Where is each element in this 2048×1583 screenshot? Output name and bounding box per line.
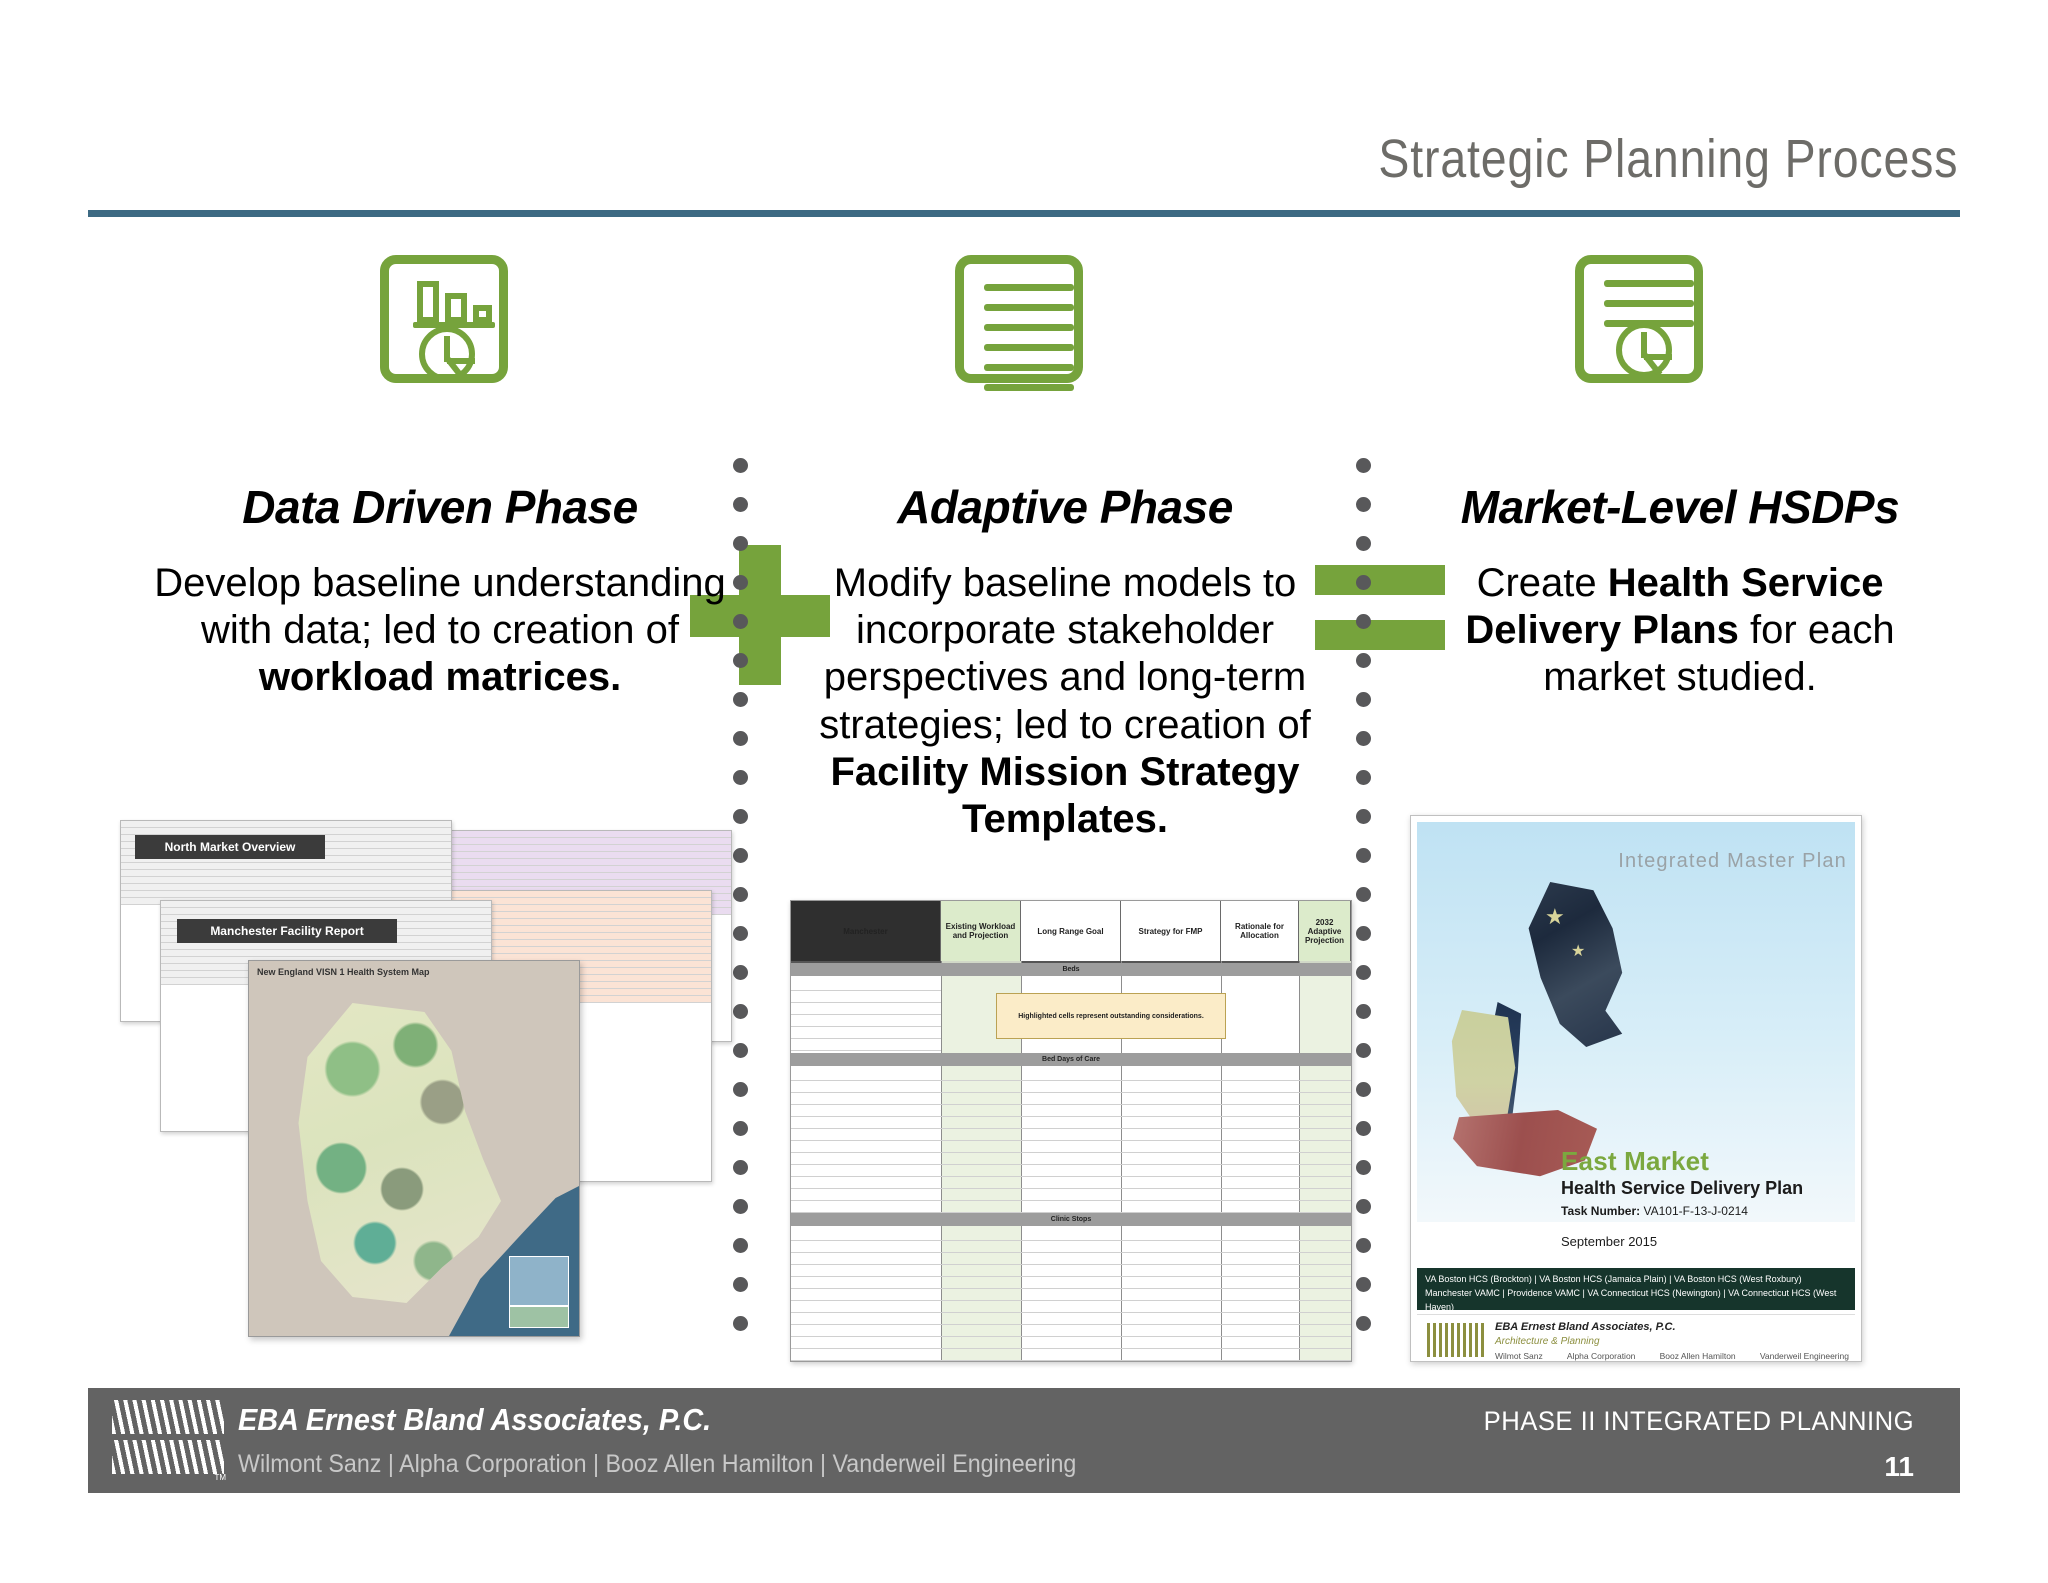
logo-band-bottom <box>112 1440 224 1474</box>
template-row <box>791 1325 1351 1337</box>
map-landmass <box>285 1003 510 1303</box>
document-with-pie-chart-icon <box>1575 255 1703 383</box>
matrix-sheet-north-market-title: North Market Overview <box>135 835 325 859</box>
slide-canvas: Strategic Planning Process <box>0 0 2048 1583</box>
matrix-row <box>121 891 451 898</box>
template-row <box>791 1313 1351 1325</box>
template-row <box>791 1253 1351 1265</box>
cover-task-line: Task Number: VA101-F-13-J-0214 <box>1561 1204 1748 1218</box>
phase-column-data-driven: Data Driven Phase Develop baseline under… <box>150 480 730 702</box>
divider-dot <box>733 653 748 668</box>
report-pie-glyph <box>1616 322 1672 378</box>
footer-page-number: 11 <box>1884 1451 1914 1483</box>
template-row-labels-group-a <box>791 979 941 1051</box>
bar-and-pie-chart-icon <box>380 255 508 383</box>
template-row <box>791 1039 941 1051</box>
document-lines-glyph <box>984 284 1074 404</box>
doc-line <box>984 344 1074 351</box>
matrix-row <box>161 943 491 950</box>
footer-firm-name: EBA Ernest Bland Associates, P.C. <box>238 1402 711 1438</box>
matrix-row <box>161 908 491 915</box>
template-row <box>791 1153 1351 1165</box>
cover-partner: Wilmot Sanz <box>1495 1351 1543 1361</box>
pie-chart-glyph <box>419 326 475 382</box>
template-row <box>791 1117 1351 1129</box>
cover-partner: Alpha Corporation <box>1567 1351 1636 1361</box>
new-england-flag-map: ★ ★ ★ <box>1431 882 1671 1182</box>
map-inset-lower <box>509 1306 569 1328</box>
template-row <box>791 1189 1351 1201</box>
cover-partner: Vanderweil Engineering <box>1760 1351 1849 1361</box>
cover-date: September 2015 <box>1561 1234 1657 1249</box>
template-row <box>791 1337 1351 1349</box>
cover-facilities-line-2: Manchester VAMC | Providence VAMC | VA C… <box>1425 1287 1847 1315</box>
template-row <box>791 1069 1351 1081</box>
matrix-row <box>121 884 451 891</box>
matrix-sheet-manchester-title: Manchester Facility Report <box>177 919 397 943</box>
template-highlight-note: Highlighted cells represent outstanding … <box>996 993 1226 1039</box>
eba-logo-icon: TM <box>112 1400 224 1480</box>
template-row <box>791 1081 1351 1093</box>
divider-dot <box>1356 1277 1371 1292</box>
map-region-maine: ★ ★ <box>1519 882 1639 1047</box>
facility-mission-strategy-template-artwork: Manchester Existing Workload and Project… <box>790 900 1352 1362</box>
doc-line <box>1604 280 1694 287</box>
cover-firm-name: EBA Ernest Bland Associates, P.C. <box>1495 1321 1676 1333</box>
divider-dot <box>1356 1316 1371 1331</box>
template-row <box>791 1361 1351 1362</box>
cover-facilities-line-1: VA Boston HCS (Brockton) | VA Boston HCS… <box>1425 1273 1847 1287</box>
divider-dot <box>1356 1238 1371 1253</box>
template-row <box>791 1105 1351 1117</box>
template-row <box>791 1003 941 1015</box>
template-header-existing-workload: Existing Workload and Projection <box>941 901 1021 961</box>
divider-dot <box>733 692 748 707</box>
footer-partner-list: Wilmont Sanz | Alpha Corporation | Booz … <box>238 1450 1076 1479</box>
doc-line <box>984 364 1074 371</box>
flag-star: ★ <box>1545 906 1565 928</box>
template-row <box>791 1165 1351 1177</box>
doc-line <box>984 304 1074 311</box>
divider-dot <box>733 614 748 629</box>
template-row <box>791 1301 1351 1313</box>
hsdp-cover-artwork: Integrated Master Plan ★ ★ ★ East Market… <box>1410 815 1862 1362</box>
doc-line <box>1604 300 1694 307</box>
divider-dot <box>733 497 748 512</box>
doc-line <box>984 324 1074 331</box>
template-header-adaptive-projection: 2032 Adaptive Projection <box>1299 901 1351 961</box>
template-row <box>791 1349 1351 1361</box>
divider-dot <box>1356 1121 1371 1136</box>
divider-dot <box>1356 965 1371 980</box>
doc-line <box>984 284 1074 291</box>
template-row <box>791 1177 1351 1189</box>
cover-task-number: VA101-F-13-J-0214 <box>1643 1204 1748 1218</box>
template-facility-cell: Manchester <box>791 901 941 961</box>
template-row <box>791 1277 1351 1289</box>
template-header-strategy-fmp: Strategy for FMP <box>1121 901 1221 961</box>
body-pre-text: Modify baseline models to incorporate st… <box>819 561 1310 747</box>
matrix-row <box>161 901 491 908</box>
template-row <box>791 991 941 1003</box>
template-row <box>791 1289 1351 1301</box>
divider-dot <box>733 731 748 746</box>
divider-dot <box>733 458 748 473</box>
template-row <box>791 1027 941 1039</box>
lined-document-icon <box>955 255 1083 383</box>
matrix-row <box>121 870 451 877</box>
template-row <box>791 1141 1351 1153</box>
cover-subtitle: Health Service Delivery Plan <box>1561 1178 1803 1199</box>
template-section-band-beds: Beds <box>791 963 1351 976</box>
map-inset-upper <box>509 1256 569 1306</box>
page-title: Strategic Planning Process <box>1378 128 1958 190</box>
trademark-mark: TM <box>214 1473 226 1482</box>
template-row <box>791 1093 1351 1105</box>
phase-column-adaptive: Adaptive Phase Modify baseline models to… <box>760 480 1370 843</box>
map-title-label: New England VISN 1 Health System Map <box>257 967 430 978</box>
matrix-row <box>121 821 451 828</box>
divider-dot <box>1356 1082 1371 1097</box>
divider-dot <box>1356 926 1371 941</box>
template-row <box>791 1201 1351 1213</box>
divider-dot <box>1356 1043 1371 1058</box>
template-row <box>791 1265 1351 1277</box>
template-section-band-clinic-stops: Clinic Stops <box>791 1213 1351 1226</box>
body-pre-text: Develop baseline understanding with data… <box>154 561 726 652</box>
slide-footer: TM EBA Ernest Bland Associates, P.C. Wil… <box>88 1388 1960 1493</box>
bar-chart-glyph <box>413 284 495 328</box>
phase-column-market-hsdp: Market-Level HSDPs Create Health Service… <box>1400 480 1960 702</box>
divider-dot <box>733 536 748 551</box>
bar-short <box>473 305 492 323</box>
template-row <box>791 1129 1351 1141</box>
template-row <box>791 1241 1351 1253</box>
divider-dot <box>1356 848 1371 863</box>
bar-mid <box>445 293 467 323</box>
footer-phase-label: PHASE II INTEGRATED PLANNING <box>1484 1406 1914 1437</box>
divider-dot <box>1356 1160 1371 1175</box>
body-bold-text: Facility Mission Strategy Templates. <box>830 750 1299 841</box>
phase-body-adaptive: Modify baseline models to incorporate st… <box>760 560 1370 843</box>
eba-logo-icon <box>1427 1323 1487 1357</box>
process-icon-row <box>0 255 2048 385</box>
phase-body-data-driven: Develop baseline understanding with data… <box>150 560 730 702</box>
flag-star: ★ <box>1571 944 1585 960</box>
phase-body-market-hsdp: Create Health Service Delivery Plans for… <box>1400 560 1960 702</box>
cover-partner-list: Wilmot Sanz Alpha Corporation Booz Allen… <box>1495 1351 1849 1361</box>
template-row <box>791 979 941 991</box>
divider-dot <box>1356 458 1371 473</box>
logo-band-top <box>112 1400 224 1434</box>
template-header-rationale: Rationale for Allocation <box>1221 901 1299 961</box>
template-rows-group-c <box>791 1229 1351 1362</box>
template-row <box>791 1015 941 1027</box>
cover-firm-discipline: Architecture & Planning <box>1495 1336 1600 1347</box>
cover-integrated-master-plan-label: Integrated Master Plan <box>1411 850 1847 873</box>
template-row <box>791 1229 1351 1241</box>
bar-tall <box>417 281 439 323</box>
template-rows-group-b <box>791 1069 1351 1213</box>
workload-matrices-artwork: North Market Overview Manchester Facilit… <box>120 820 760 1350</box>
cover-facilities-strip: VA Boston HCS (Brockton) | VA Boston HCS… <box>1417 1268 1855 1310</box>
matrix-row <box>121 877 451 884</box>
divider-dot <box>733 770 748 785</box>
divider-dot <box>1356 1004 1371 1019</box>
doc-line <box>984 384 1074 391</box>
template-section-band-bed-days: Bed Days of Care <box>791 1053 1351 1066</box>
cover-footer: EBA Ernest Bland Associates, P.C. Archit… <box>1417 1314 1855 1355</box>
divider-dot <box>1356 887 1371 902</box>
template-header-long-range-goal: Long Range Goal <box>1021 901 1121 961</box>
body-bold-text: workload matrices. <box>259 655 621 699</box>
template-header-row: Manchester Existing Workload and Project… <box>791 901 1351 963</box>
matrix-row <box>121 828 451 835</box>
body-pre-text: Create <box>1477 561 1608 605</box>
matrix-row <box>121 863 451 870</box>
cover-market-name: East Market <box>1561 1146 1709 1177</box>
divider-dot <box>1356 1199 1371 1214</box>
cover-partner: Booz Allen Hamilton <box>1660 1351 1736 1361</box>
phase-heading-data-driven: Data Driven Phase <box>150 480 730 534</box>
phase-heading-adaptive: Adaptive Phase <box>760 480 1370 534</box>
phase-heading-market-hsdp: Market-Level HSDPs <box>1400 480 1960 534</box>
cover-task-label: Task Number: <box>1561 1204 1640 1218</box>
title-divider-rule <box>88 210 1960 217</box>
divider-dot <box>733 575 748 590</box>
matrix-row <box>161 950 491 957</box>
new-england-health-system-map: New England VISN 1 Health System Map <box>248 960 580 1337</box>
